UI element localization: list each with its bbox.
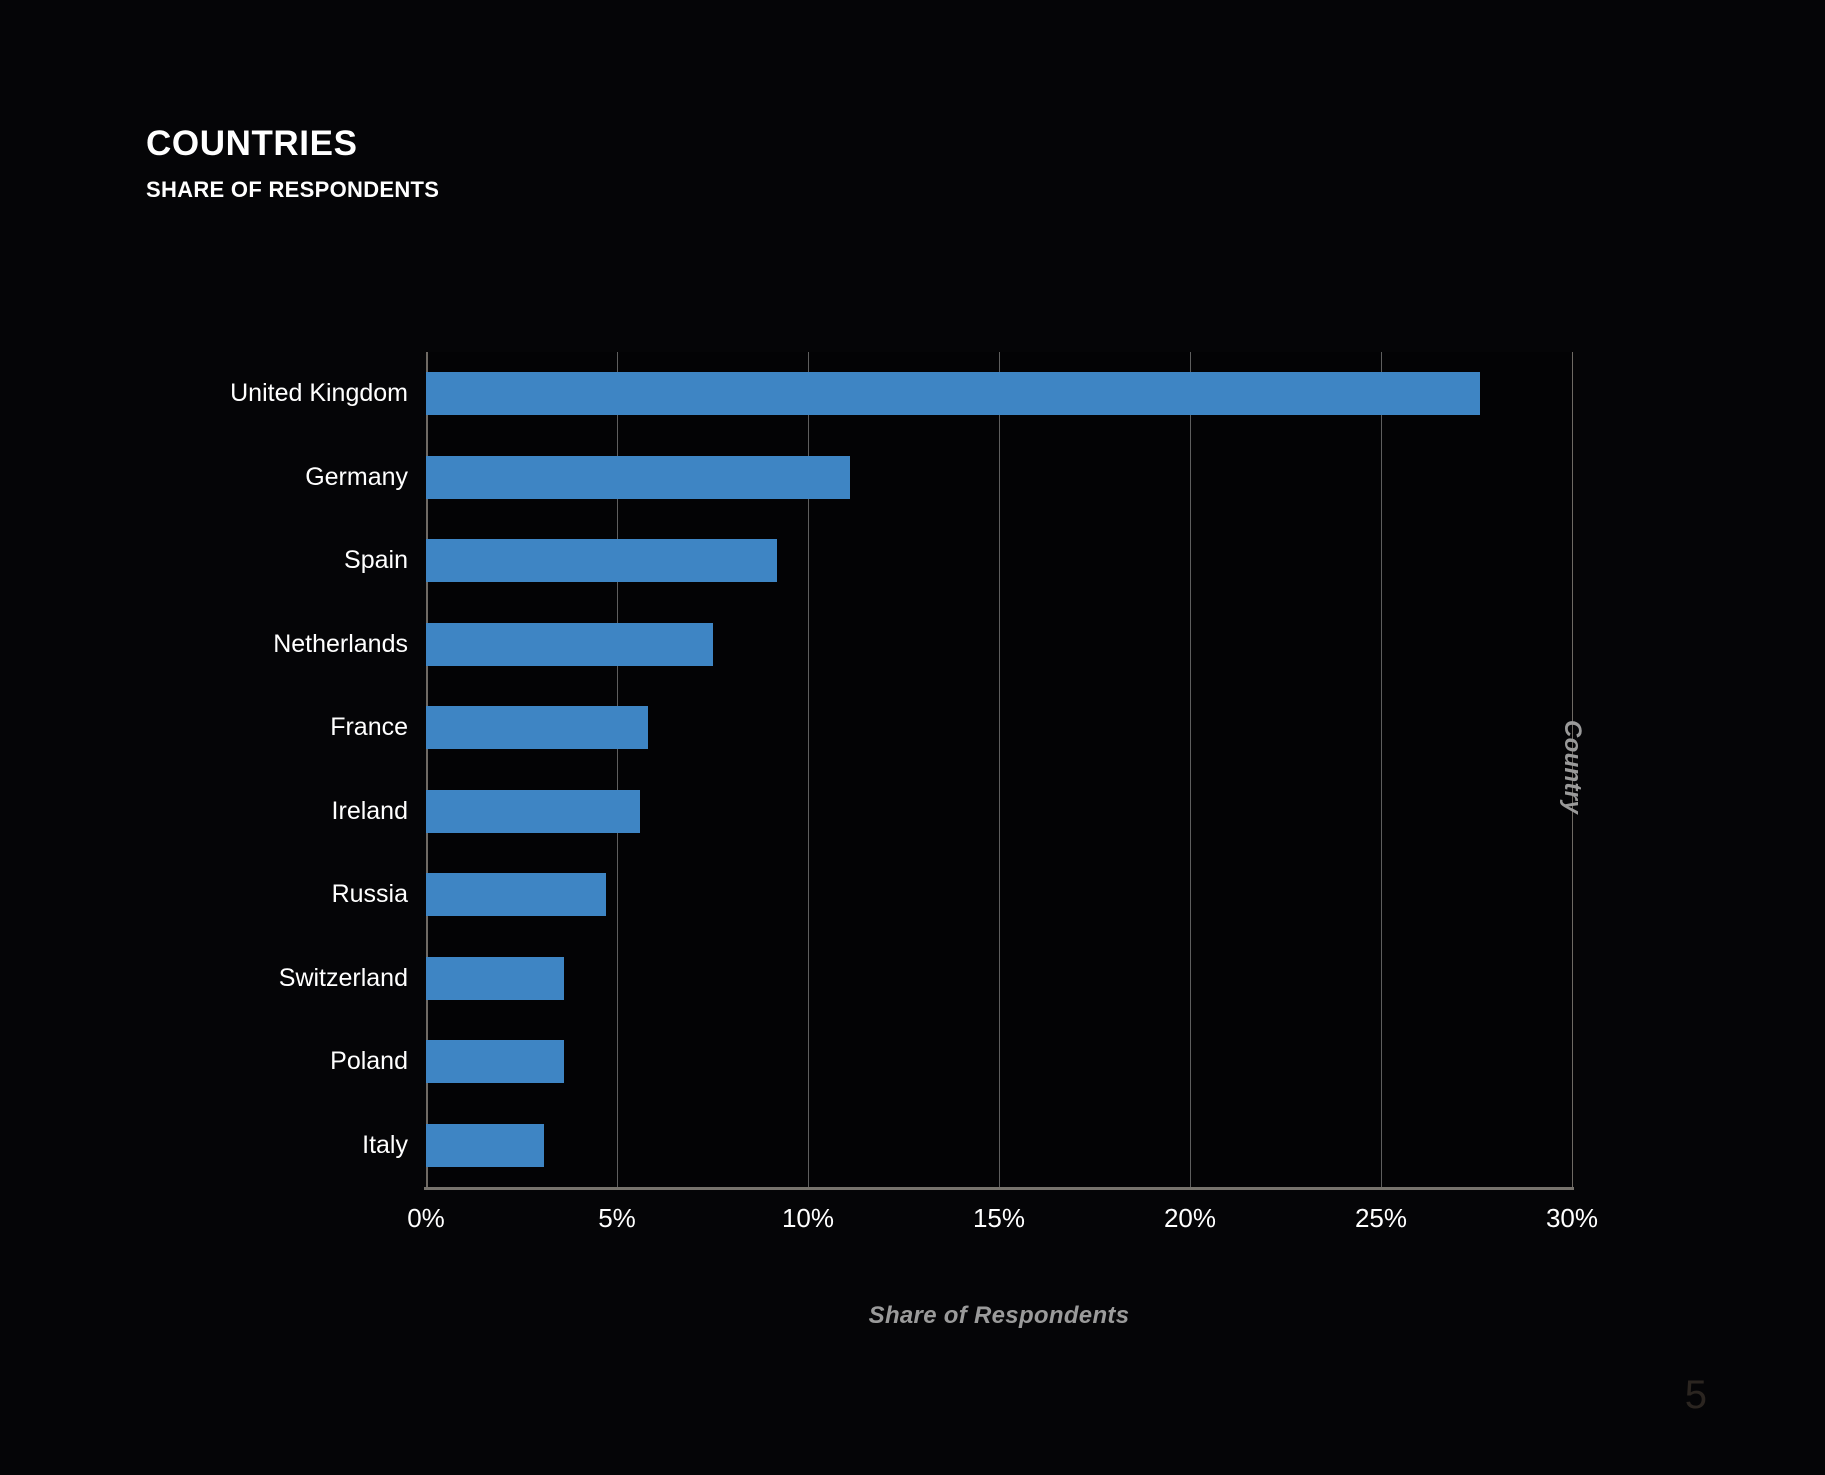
- bar-series: United KingdomGermanySpainNetherlandsFra…: [426, 352, 1572, 1187]
- category-label: Poland: [330, 1049, 408, 1074]
- category-label: Russia: [332, 882, 408, 907]
- category-label: Germany: [305, 465, 408, 490]
- page-title: COUNTRIES: [146, 125, 439, 164]
- x-tick-label: 20%: [1164, 1203, 1216, 1234]
- x-axis-title: Share of Respondents: [426, 1302, 1572, 1330]
- category-label: United Kingdom: [230, 381, 408, 406]
- bar[interactable]: [426, 372, 1480, 415]
- bar[interactable]: [426, 1040, 564, 1083]
- category-label: Netherlands: [273, 632, 408, 657]
- bar-row[interactable]: Switzerland: [426, 937, 1572, 1021]
- page-subtitle: SHARE OF RESPONDENTS: [146, 177, 439, 203]
- bar[interactable]: [426, 790, 640, 833]
- bar-row[interactable]: Italy: [426, 1104, 1572, 1188]
- bar[interactable]: [426, 539, 777, 582]
- heading-block: COUNTRIES SHARE OF RESPONDENTS: [146, 125, 439, 203]
- x-tick-label: 5%: [598, 1203, 636, 1234]
- category-label: Switzerland: [279, 966, 408, 991]
- bar[interactable]: [426, 706, 648, 749]
- bar-row[interactable]: Russia: [426, 853, 1572, 937]
- bar[interactable]: [426, 957, 564, 1000]
- x-tick-label: 15%: [973, 1203, 1025, 1234]
- bar-row[interactable]: Spain: [426, 519, 1572, 603]
- category-label: Spain: [344, 548, 408, 573]
- slide-canvas: COUNTRIES SHARE OF RESPONDENTS United Ki…: [0, 0, 1825, 1475]
- bar[interactable]: [426, 1124, 544, 1167]
- category-label: France: [330, 715, 408, 740]
- y-axis-title: Country: [1558, 720, 1586, 814]
- bar[interactable]: [426, 623, 713, 666]
- bar[interactable]: [426, 873, 606, 916]
- page-number: 5: [1685, 1375, 1707, 1415]
- x-axis-line: [424, 1187, 1574, 1190]
- bar-row[interactable]: United Kingdom: [426, 352, 1572, 436]
- bar-row[interactable]: Germany: [426, 436, 1572, 520]
- x-tick-label: 30%: [1546, 1203, 1598, 1234]
- x-tick-label: 0%: [407, 1203, 445, 1234]
- bar-chart: United KingdomGermanySpainNetherlandsFra…: [426, 352, 1572, 1187]
- bar-row[interactable]: France: [426, 686, 1572, 770]
- bar-row[interactable]: Poland: [426, 1020, 1572, 1104]
- bar[interactable]: [426, 456, 850, 499]
- category-label: Ireland: [332, 799, 408, 824]
- category-label: Italy: [362, 1133, 408, 1158]
- x-tick-label: 10%: [782, 1203, 834, 1234]
- bar-row[interactable]: Ireland: [426, 770, 1572, 854]
- x-tick-label: 25%: [1355, 1203, 1407, 1234]
- bar-row[interactable]: Netherlands: [426, 603, 1572, 687]
